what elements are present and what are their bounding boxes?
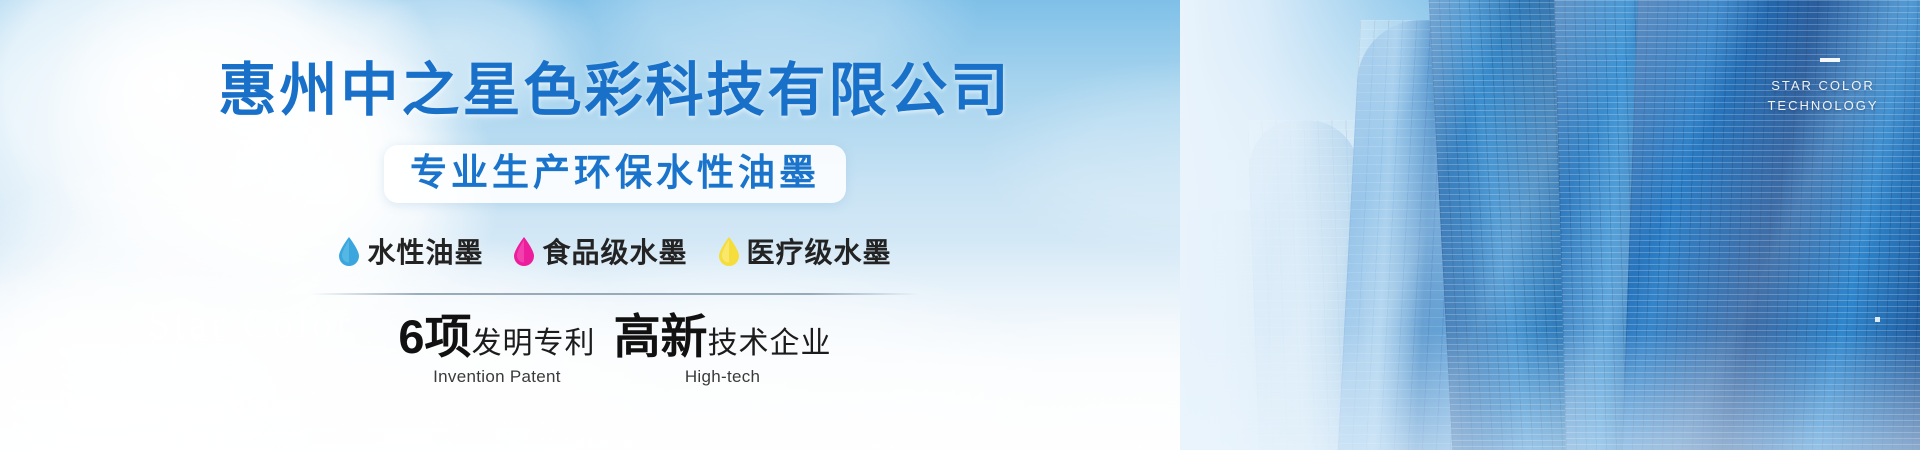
stat-english-label: High-tech: [685, 367, 760, 387]
water-drop-icon: [718, 236, 740, 266]
stat-high-tech: 高新 技术企业 High-tech: [614, 313, 832, 387]
building-brand-line1: STAR COLOR: [1748, 76, 1898, 96]
company-headline: 惠州中之星色彩科技有限公司: [218, 62, 1011, 120]
ink-item-medicalgrade: 医疗级水墨: [718, 231, 892, 271]
stat-big-text: 6项: [398, 313, 471, 360]
stats-list: 6项 发明专利 Invention Patent 高新 技术企业 High-te…: [398, 313, 831, 387]
subtitle-label: 专业生产环保水性油墨: [410, 152, 820, 193]
banner-content: 惠州中之星色彩科技有限公司 专业生产环保水性油墨 水性油墨 食品级水墨: [0, 0, 1230, 450]
stat-small-text: 发明专利: [472, 329, 596, 359]
section-divider: [311, 293, 919, 295]
ink-item-label: 食品级水墨: [542, 231, 687, 271]
ink-product-list: 水性油墨 食品级水墨 医疗级水墨: [338, 231, 891, 271]
water-drop-icon: [513, 236, 535, 266]
city-skyline-photo: STAR COLOR TECHNOLOGY: [1180, 0, 1920, 450]
stat-invention-patent: 6项 发明专利 Invention Patent: [398, 313, 595, 387]
water-drop-icon: [338, 236, 360, 266]
ink-item-waterbased: 水性油墨: [338, 231, 483, 271]
stat-english-label: Invention Patent: [433, 367, 561, 387]
ink-item-label: 医疗级水墨: [747, 231, 892, 271]
stat-big-text: 高新: [614, 313, 708, 360]
ink-item-foodgrade: 食品级水墨: [513, 231, 687, 271]
subtitle-pill: 专业生产环保水性油墨: [384, 145, 846, 203]
building-brand-text: STAR COLOR TECHNOLOGY: [1748, 76, 1898, 116]
building-marker-dot: [1875, 317, 1880, 322]
promo-banner: Star Color STAR COLOR TECHNOLOGY 惠州中之星色彩…: [0, 0, 1920, 450]
building-brand-line2: TECHNOLOGY: [1748, 96, 1898, 116]
building-marker-dash: [1820, 58, 1840, 62]
ink-item-label: 水性油墨: [367, 231, 483, 271]
stat-small-text: 技术企业: [708, 329, 832, 359]
city-bottom-fade: [1180, 330, 1920, 450]
